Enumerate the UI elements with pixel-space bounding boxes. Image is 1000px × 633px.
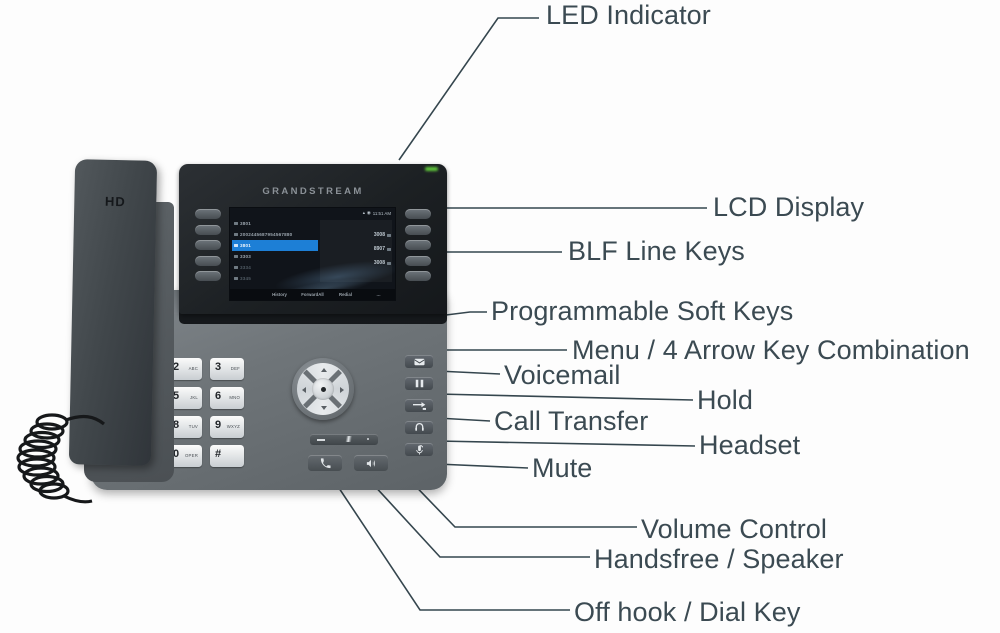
line-status-icon xyxy=(234,222,238,225)
blf-key-left-4[interactable] xyxy=(195,256,221,266)
key-digit: # xyxy=(215,449,221,460)
hold-key[interactable] xyxy=(405,377,433,390)
lcd-blf-text: 3008 xyxy=(374,260,385,266)
lcd-line-row[interactable]: 2002445687954567880 xyxy=(232,229,318,240)
mute-key[interactable] xyxy=(405,443,433,456)
callout-lcd-display: LCD Display xyxy=(713,194,864,221)
handset-cord xyxy=(8,400,128,510)
lcd-line-row[interactable]: 3303 xyxy=(232,251,318,262)
callout-mute: Mute xyxy=(532,455,592,482)
lcd-account-list: 3801 2002445687954567880 3801 3303 xyxy=(232,218,318,284)
status-clock-icon: ◉ xyxy=(367,210,371,216)
blf-key-right-1[interactable] xyxy=(405,209,431,219)
lcd-soft-key-labels: History ForwardAll Redial … xyxy=(230,289,395,300)
keypad-key-9[interactable]: 9 WXYZ xyxy=(210,416,244,438)
key-letters: ABC xyxy=(189,366,198,371)
callout-programmable-soft-keys: Programmable Soft Keys xyxy=(491,298,793,325)
lcd-soft-label-4[interactable]: Redial xyxy=(329,292,362,297)
diagram-canvas: LED Indicator LCD Display BLF Line Keys … xyxy=(0,0,1000,633)
arrow-right-icon[interactable] xyxy=(340,387,344,393)
lcd-line-row[interactable]: 3334 xyxy=(232,262,318,273)
brand-logo: GRANDSTREAM xyxy=(179,186,447,197)
blf-key-left-2[interactable] xyxy=(195,225,221,235)
lcd-blf-label: 3008 xyxy=(323,256,391,270)
lcd-blf-label: 8907 xyxy=(323,242,391,256)
line-status-icon xyxy=(234,244,238,247)
line-status-icon xyxy=(234,277,238,280)
lcd-soft-label-1[interactable] xyxy=(230,292,263,297)
handsfree-speaker-key[interactable] xyxy=(354,455,388,471)
lcd-blf-text: 3008 xyxy=(374,232,385,238)
call-transfer-key[interactable] xyxy=(405,399,433,412)
ip-phone-illustration: GRANDSTREAM ▴ xyxy=(60,150,460,525)
blf-status-icon xyxy=(387,248,391,251)
volume-up-icon[interactable] xyxy=(367,438,369,440)
volume-level-indicator xyxy=(336,436,361,442)
lcd-line-row[interactable]: 3345 xyxy=(232,273,318,284)
off-hook-dial-key[interactable] xyxy=(308,455,342,471)
callout-off-hook-dial-key: Off hook / Dial Key xyxy=(574,599,801,626)
callout-call-transfer: Call Transfer xyxy=(494,408,648,435)
callout-voicemail: Voicemail xyxy=(504,362,620,389)
callout-led-indicator: LED Indicator xyxy=(546,2,711,29)
menu-arrow-key-wheel[interactable] xyxy=(292,358,354,420)
keypad-key-3[interactable]: 3 DEF xyxy=(210,358,244,380)
key-letters: MNO xyxy=(229,395,240,400)
blf-key-right-4[interactable] xyxy=(405,256,431,266)
headset-key[interactable] xyxy=(405,421,433,434)
blf-key-right-2[interactable] xyxy=(405,225,431,235)
voicemail-key[interactable] xyxy=(405,355,433,368)
key-digit: 3 xyxy=(215,362,221,373)
key-digit: 6 xyxy=(215,391,221,402)
blf-status-icon xyxy=(387,262,391,265)
callout-blf-line-keys: BLF Line Keys xyxy=(568,238,745,265)
speaker-icon xyxy=(365,458,377,469)
key-letters: OPER xyxy=(185,453,198,458)
arrow-down-icon[interactable] xyxy=(321,406,327,410)
callout-volume-control: Volume Control xyxy=(641,516,827,543)
callout-hold: Hold xyxy=(697,387,753,414)
lcd-blf-label-list: 3008 8907 3008 xyxy=(323,228,391,270)
line-status-icon xyxy=(234,255,238,258)
keypad-key-hash[interactable]: # xyxy=(210,445,244,467)
led-indicator xyxy=(425,167,438,171)
lcd-line-label: 3801 xyxy=(240,221,251,226)
blf-status-icon xyxy=(387,234,391,237)
lcd-soft-label-2[interactable]: History xyxy=(263,292,296,297)
lcd-display[interactable]: ▴ ◉ 11:51 AM 3801 2002445687954567880 xyxy=(229,207,396,301)
phone-display-housing: GRANDSTREAM ▴ xyxy=(179,164,447,314)
lcd-blf-label: 3008 xyxy=(323,228,391,242)
blf-keys-right xyxy=(405,209,431,281)
callout-headset: Headset xyxy=(699,432,800,459)
arrow-up-icon[interactable] xyxy=(321,368,327,372)
status-time: 11:51 AM xyxy=(373,211,391,216)
key-letters: DEF xyxy=(231,366,240,371)
function-key-column xyxy=(405,355,433,456)
keypad-key-6[interactable]: 6 MNO xyxy=(210,387,244,409)
arrow-left-icon[interactable] xyxy=(302,387,306,393)
blf-keys-left xyxy=(195,209,221,281)
lcd-line-row[interactable]: 3801 xyxy=(232,218,318,229)
lcd-line-label: 3345 xyxy=(240,276,251,281)
line-status-icon xyxy=(234,266,238,269)
callout-handsfree-speaker: Handsfree / Speaker xyxy=(594,546,844,573)
mute-icon xyxy=(416,445,423,455)
volume-down-icon[interactable] xyxy=(317,439,325,441)
lcd-line-row-selected[interactable]: 3801 xyxy=(232,240,318,251)
handset-hd-marking: HD xyxy=(74,193,156,210)
handset-icon xyxy=(320,458,331,469)
key-letters: TUV xyxy=(189,424,198,429)
transfer-icon xyxy=(413,402,426,410)
key-letters: JKL xyxy=(190,395,198,400)
key-digit: 9 xyxy=(215,420,221,431)
lcd-blf-text: 8907 xyxy=(374,246,385,252)
blf-key-right-5[interactable] xyxy=(405,271,431,281)
blf-key-left-3[interactable] xyxy=(195,240,221,250)
headset-icon xyxy=(415,423,424,432)
lcd-line-label: 3801 xyxy=(240,243,251,248)
blf-key-right-3[interactable] xyxy=(405,240,431,250)
lcd-soft-label-5[interactable]: … xyxy=(362,292,395,297)
line-status-icon xyxy=(234,233,238,236)
voicemail-icon xyxy=(414,358,425,366)
callout-menu-arrow-keys: Menu / 4 Arrow Key Combination xyxy=(572,337,970,364)
menu-center-dot-icon xyxy=(321,387,326,392)
volume-control-rocker[interactable] xyxy=(310,434,378,445)
lcd-line-label: 2002445687954567880 xyxy=(240,232,292,237)
lcd-line-label: 3334 xyxy=(240,265,251,270)
lcd-soft-label-3[interactable]: ForwardAll xyxy=(296,292,329,297)
pause-icon xyxy=(415,379,424,388)
key-letters: WXYZ xyxy=(227,424,240,429)
status-signal-icon: ▴ xyxy=(363,210,365,216)
lcd-status-bar: ▴ ◉ 11:51 AM xyxy=(363,210,391,216)
blf-key-left-1[interactable] xyxy=(195,209,221,219)
blf-key-left-5[interactable] xyxy=(195,271,221,281)
lcd-line-label: 3303 xyxy=(240,254,251,259)
